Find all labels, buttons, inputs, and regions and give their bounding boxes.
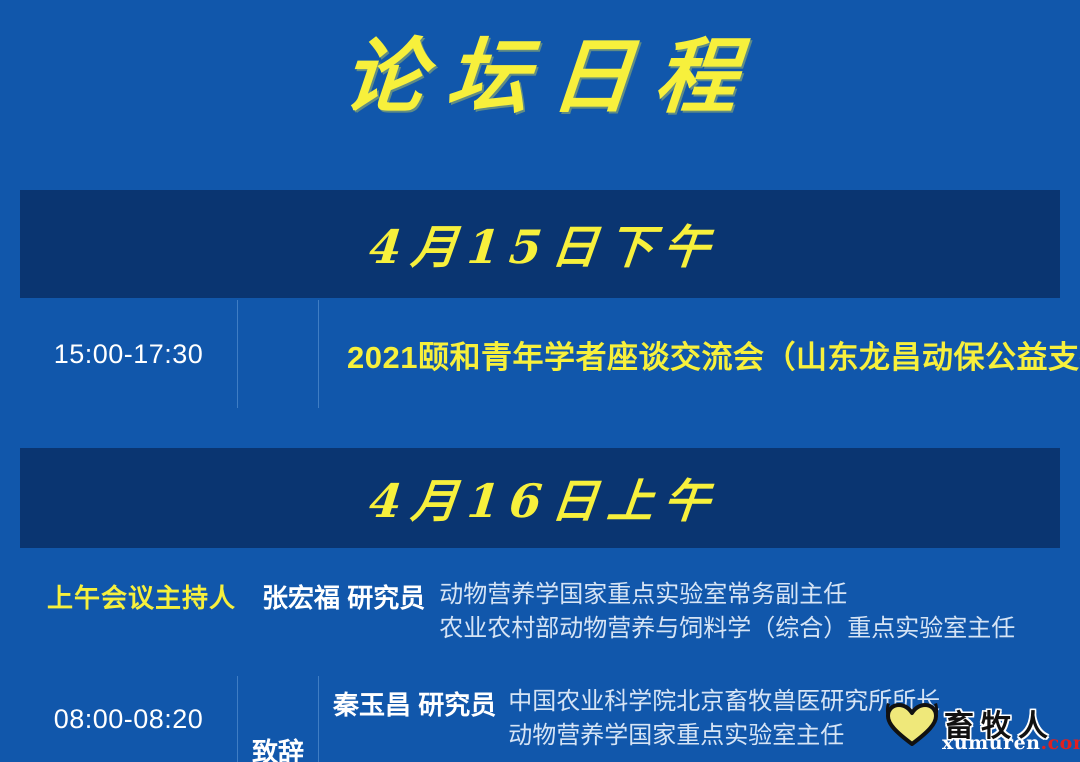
day-banner-label: 4月15日下午 (357, 211, 724, 277)
table-row[interactable]: 15:00-17:30 2021颐和青年学者座谈交流会（山东龙昌动保公益支持） (20, 300, 1060, 408)
table-row[interactable]: 08:00-08:20 致辞 秦玉昌 研究员 中国农业科学院北京畜牧兽医研究所所… (20, 676, 1060, 762)
speaker-affiliations: 中国农业科学院北京畜牧兽医研究所所长 动物营养学国家重点实验室主任 (508, 685, 940, 753)
row-topic (238, 300, 318, 408)
row-content: 2021颐和青年学者座谈交流会（山东龙昌动保公益支持） (319, 300, 1080, 408)
page-title: 论坛日程 (0, 22, 1080, 133)
host-affiliations: 动物营养学国家重点实验室常务副主任 农业农村部动物营养与饲料学（综合）重点实验室… (439, 578, 1015, 646)
session-title: 2021颐和青年学者座谈交流会（山东龙昌动保公益支持） (347, 332, 1080, 377)
host-label: 上午会议主持人 (47, 578, 236, 615)
row-topic: 致辞 (238, 676, 318, 762)
speaker-affiliation-line: 动物营养学国家重点实验室主任 (508, 719, 940, 753)
day-banner-label: 4月16日上午 (357, 465, 724, 531)
speaker-block: 秦玉昌 研究员 中国农业科学院北京畜牧兽医研究所所长 动物营养学国家重点实验室主… (333, 685, 940, 753)
forum-schedule-poster: 论坛日程 4月15日下午 15:00-17:30 2021颐和青年学者座谈交流会… (0, 0, 1080, 762)
row-time: 08:00-08:20 (20, 676, 237, 762)
host-name: 张宏福 研究员 (262, 578, 425, 615)
day-banner-0: 4月15日下午 (20, 190, 1060, 298)
speaker-name: 秦玉昌 研究员 (333, 685, 496, 722)
host-row-content: 上午会议主持人 张宏福 研究员 动物营养学国家重点实验室常务副主任 农业农村部动… (47, 578, 1015, 646)
host-affiliation-line: 动物营养学国家重点实验室常务副主任 (439, 578, 1015, 612)
row-time: 15:00-17:30 (20, 300, 237, 408)
host-affiliation-line: 农业农村部动物营养与饲料学（综合）重点实验室主任 (439, 612, 1015, 646)
speaker-affiliation-line: 中国农业科学院北京畜牧兽医研究所所长 (508, 685, 940, 719)
day-banner-1: 4月16日上午 (20, 448, 1060, 548)
row-content: 秦玉昌 研究员 中国农业科学院北京畜牧兽医研究所所长 动物营养学国家重点实验室主… (319, 676, 1060, 762)
